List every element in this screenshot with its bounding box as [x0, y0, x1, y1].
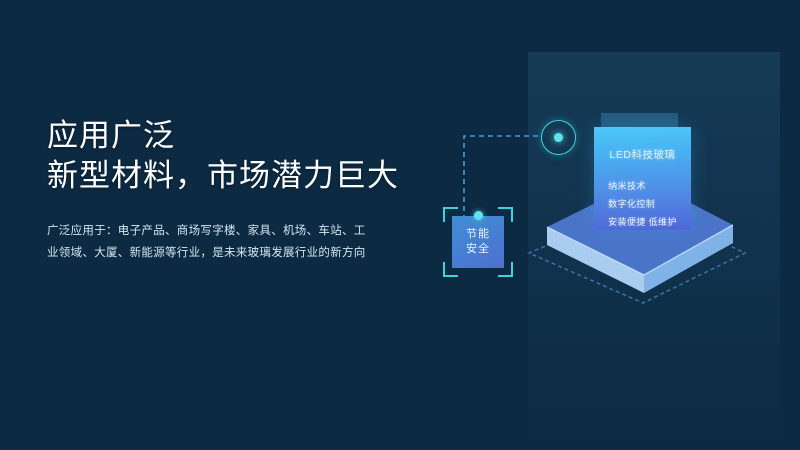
- glass-panel-feature-list: 纳米技术 数字化控制 安装便捷 低维护: [608, 179, 677, 228]
- headline-line-2: 新型材料，市场潜力巨大: [47, 158, 399, 193]
- headline-line-1: 应用广泛: [47, 118, 175, 153]
- badge-label-1: 节能: [466, 227, 490, 242]
- list-item: 数字化控制: [608, 197, 655, 210]
- list-item: 纳米技术: [608, 179, 646, 192]
- body-paragraph: 广泛应用于：电子产品、商场写字楼、家具、机场、车站、工业领域、大厦、新能源等行业…: [47, 220, 377, 264]
- list-item: 安装便捷 低维护: [608, 215, 677, 228]
- glass-panel-title: LED科技玻璃: [610, 147, 676, 162]
- status-badge[interactable]: 节能 安全: [443, 207, 513, 277]
- badge-dot-icon: [474, 211, 483, 220]
- badge-box: 节能 安全: [452, 216, 504, 268]
- slide-canvas: 应用广泛 新型材料，市场潜力巨大 广泛应用于：电子产品、商场写字楼、家具、机场、…: [0, 0, 800, 450]
- page-title: 应用广泛 新型材料，市场潜力巨大: [47, 116, 399, 196]
- badge-label-2: 安全: [466, 242, 490, 257]
- glass-panel-card[interactable]: LED科技玻璃 纳米技术 数字化控制 安装便捷 低维护: [594, 127, 691, 230]
